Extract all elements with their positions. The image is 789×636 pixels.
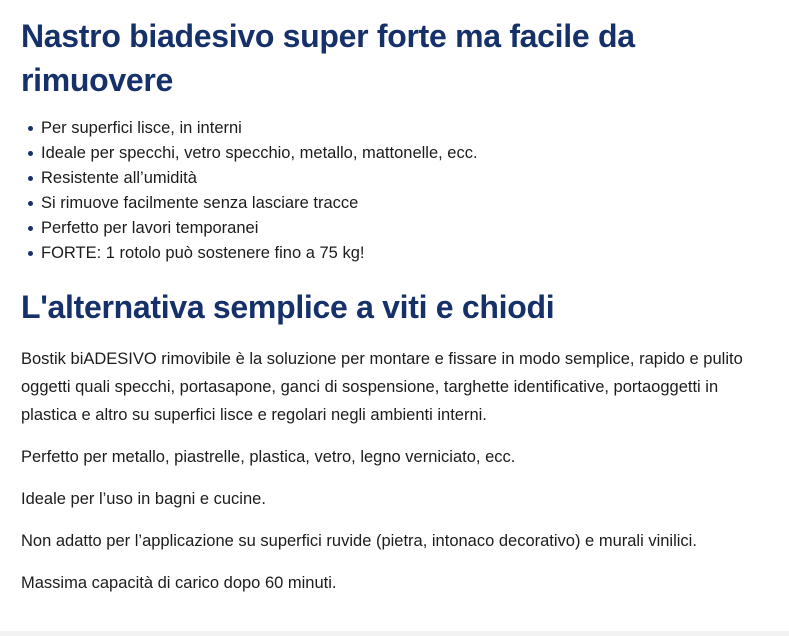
description-paragraph: Perfetto per metallo, piastrelle, plasti…	[21, 429, 773, 471]
feature-label: FORTE: 1 rotolo può sostenere fino a 75 …	[41, 244, 364, 262]
page-title: Nastro biadesivo super forte ma facile d…	[21, 0, 773, 102]
description-paragraph: Non adatto per l’applicazione su superfi…	[21, 513, 773, 555]
feature-label: Si rimuove facilmente senza lasciare tra…	[41, 194, 358, 212]
list-item: Per superfici lisce, in interni	[21, 119, 773, 137]
description-paragraph: Ideale per l’uso in bagni e cucine.	[21, 471, 773, 513]
content-container: Nastro biadesivo super forte ma facile d…	[21, 0, 773, 597]
feature-label: Per superfici lisce, in interni	[41, 119, 242, 137]
feature-list: Per superfici lisce, in interni Ideale p…	[21, 102, 773, 262]
description-paragraph: Massima capacità di carico dopo 60 minut…	[21, 555, 773, 597]
list-item: Si rimuove facilmente senza lasciare tra…	[21, 194, 773, 212]
list-item: FORTE: 1 rotolo può sostenere fino a 75 …	[21, 244, 773, 262]
bullet-icon	[28, 251, 33, 256]
list-item: Ideale per specchi, vetro specchio, meta…	[21, 144, 773, 162]
bullet-icon	[28, 151, 33, 156]
bullet-icon	[28, 201, 33, 206]
section-heading: L'alternativa semplice a viti e chiodi	[21, 269, 773, 328]
feature-label: Ideale per specchi, vetro specchio, meta…	[41, 144, 478, 162]
feature-label: Resistente all’umidità	[41, 169, 197, 187]
description-paragraph: Bostik biADESIVO rimovibile è la soluzio…	[21, 328, 773, 429]
bullet-icon	[28, 126, 33, 131]
bullet-icon	[28, 176, 33, 181]
bottom-divider	[0, 631, 789, 636]
list-item: Perfetto per lavori temporanei	[21, 219, 773, 237]
bullet-icon	[28, 226, 33, 231]
list-item: Resistente all’umidità	[21, 169, 773, 187]
feature-label: Perfetto per lavori temporanei	[41, 219, 258, 237]
product-description-page: Nastro biadesivo super forte ma facile d…	[0, 0, 789, 636]
